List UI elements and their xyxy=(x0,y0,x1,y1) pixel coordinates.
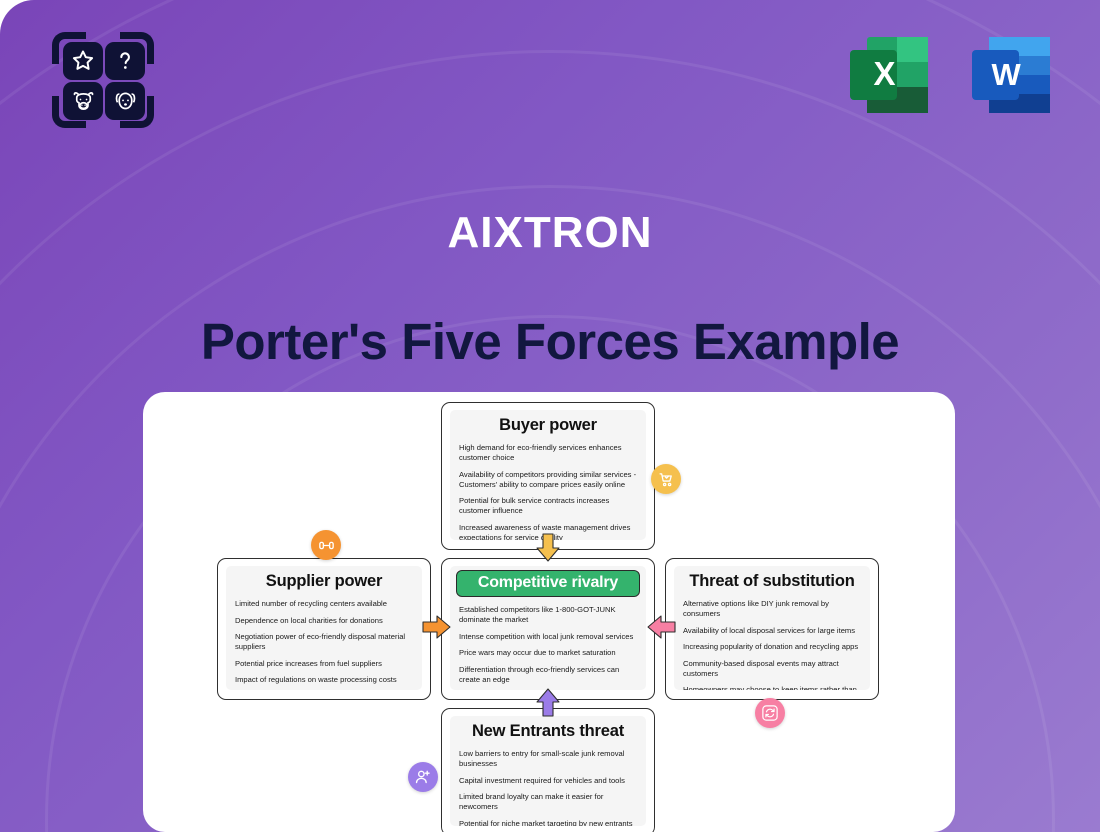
svg-text:X: X xyxy=(874,55,896,92)
porters-five-forces-diagram: Buyer power High demand for eco-friendly… xyxy=(143,392,955,832)
force-point: Increasing popularity of donation and re… xyxy=(683,642,861,652)
force-point: Limited brand loyalty can make it easier… xyxy=(459,792,637,812)
force-box-threat-of-substitution[interactable]: Threat of substitution Alternative optio… xyxy=(665,558,879,700)
force-point: Availability of competitors providing si… xyxy=(459,470,637,490)
force-point: Limited number of recycling centers avai… xyxy=(235,599,413,609)
word-icon[interactable]: W xyxy=(964,28,1058,122)
force-points-buyer-power: High demand for eco-friendly services en… xyxy=(459,443,637,540)
force-title-buyer-power: Buyer power xyxy=(459,416,637,435)
arrow-up-entrants xyxy=(532,686,564,718)
question-mark-icon xyxy=(105,42,145,80)
svg-text:W: W xyxy=(992,57,1022,92)
force-point: Community-based disposal events may attr… xyxy=(683,659,861,679)
content-card: Buyer power High demand for eco-friendly… xyxy=(143,392,955,832)
force-title-competitive-rivalry: Competitive rivalry xyxy=(456,570,640,597)
force-box-inner: Threat of substitution Alternative optio… xyxy=(674,566,870,690)
screenshot-root: X W AIXTRON Porter's Five Forces Example xyxy=(0,0,1100,832)
force-point: Potential for niche market targeting by … xyxy=(459,819,637,826)
arrow-down-buyer xyxy=(532,532,564,564)
office-icon-group: X W xyxy=(842,28,1058,122)
force-point: Capital investment required for vehicles… xyxy=(459,776,637,786)
add-person-icon[interactable] xyxy=(408,762,438,792)
force-point: Price wars may occur due to market satur… xyxy=(459,648,637,658)
force-box-new-entrants-threat[interactable]: New Entrants threat Low barriers to entr… xyxy=(441,708,655,832)
force-points-threat-of-substitution: Alternative options like DIY junk remova… xyxy=(683,599,861,690)
force-title-supplier-power: Supplier power xyxy=(235,572,413,591)
cow-icon xyxy=(63,82,103,120)
force-point: Potential for bulk service contracts inc… xyxy=(459,496,637,516)
force-box-competitive-rivalry[interactable]: Competitive rivalry Established competit… xyxy=(441,558,655,700)
qr-pet-logo[interactable] xyxy=(48,30,158,130)
recycle-refresh-icon[interactable] xyxy=(755,698,785,728)
force-box-inner: Buyer power High demand for eco-friendly… xyxy=(450,410,646,540)
link-chain-icon[interactable] xyxy=(311,530,341,560)
force-points-supplier-power: Limited number of recycling centers avai… xyxy=(235,599,413,685)
force-point: Homeowners may choose to keep items rath… xyxy=(683,685,861,690)
force-point: Low barriers to entry for small-scale ju… xyxy=(459,749,637,769)
force-point: Impact of regulations on waste processin… xyxy=(235,675,413,685)
dog-icon xyxy=(105,82,145,120)
excel-icon[interactable]: X xyxy=(842,28,936,122)
hero-background: X W AIXTRON Porter's Five Forces Example xyxy=(0,0,1100,832)
force-title-new-entrants-threat: New Entrants threat xyxy=(459,722,637,741)
shopping-cart-icon[interactable] xyxy=(651,464,681,494)
force-point: Established competitors like 1-800-GOT-J… xyxy=(459,605,637,625)
arrow-left-substitution xyxy=(645,611,677,643)
force-point: Intense competition with local junk remo… xyxy=(459,632,637,642)
force-points-competitive-rivalry: Established competitors like 1-800-GOT-J… xyxy=(459,605,637,690)
force-point: Availability of local disposal services … xyxy=(683,626,861,636)
page-title: Porter's Five Forces Example xyxy=(0,312,1100,371)
star-icon xyxy=(63,42,103,80)
force-point: Alternative options like DIY junk remova… xyxy=(683,599,861,619)
force-title-threat-of-substitution: Threat of substitution xyxy=(683,572,861,591)
force-box-inner: Competitive rivalry Established competit… xyxy=(450,566,646,690)
force-point: Dependence on local charities for donati… xyxy=(235,616,413,626)
arrow-right-supplier xyxy=(421,611,453,643)
force-box-buyer-power[interactable]: Buyer power High demand for eco-friendly… xyxy=(441,402,655,550)
force-points-new-entrants-threat: Low barriers to entry for small-scale ju… xyxy=(459,749,637,826)
force-point: Potential price increases from fuel supp… xyxy=(235,659,413,669)
force-point: Differentiation through eco-friendly ser… xyxy=(459,665,637,685)
force-point: Negotiation power of eco-friendly dispos… xyxy=(235,632,413,652)
force-point: High demand for eco-friendly services en… xyxy=(459,443,637,463)
force-box-inner: Supplier power Limited number of recycli… xyxy=(226,566,422,690)
force-box-supplier-power[interactable]: Supplier power Limited number of recycli… xyxy=(217,558,431,700)
force-box-inner: New Entrants threat Low barriers to entr… xyxy=(450,716,646,826)
brand-name: AIXTRON xyxy=(0,208,1100,258)
